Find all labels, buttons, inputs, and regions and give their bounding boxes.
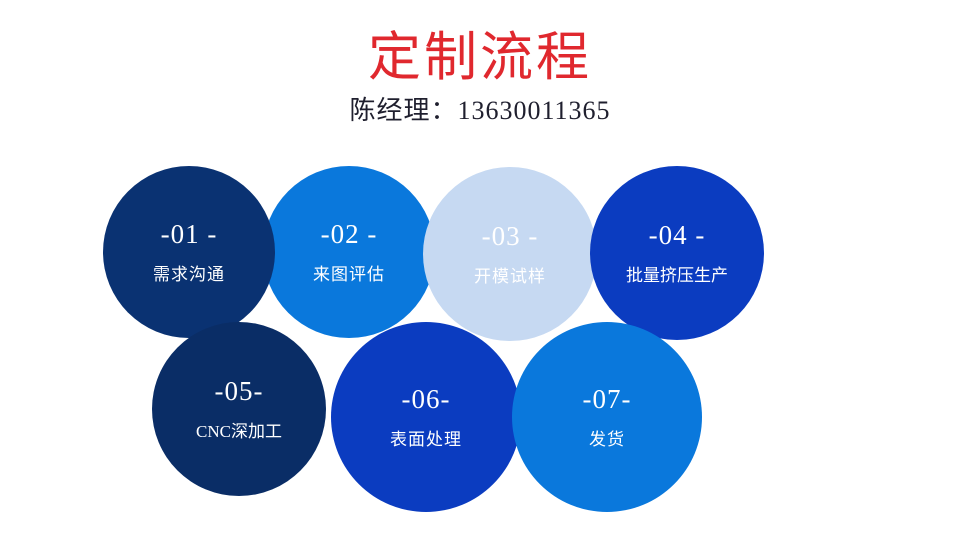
- step-label: 表面处理: [390, 431, 462, 448]
- step-number: -03 -: [482, 223, 539, 250]
- process-step-circle[interactable]: -03 -开模试样: [423, 167, 597, 341]
- step-label: 批量挤压生产: [626, 267, 728, 284]
- step-label: 发货: [589, 431, 625, 448]
- step-label: 需求沟通: [153, 266, 225, 283]
- process-step-circle[interactable]: -07-发货: [512, 322, 702, 512]
- step-label: 来图评估: [313, 266, 385, 283]
- step-label: 开模试样: [474, 268, 546, 285]
- step-number: -06-: [402, 386, 451, 413]
- process-step-circle[interactable]: -04 -批量挤压生产: [590, 166, 764, 340]
- step-number: -05-: [215, 378, 264, 405]
- process-step-circle[interactable]: -05-CNC深加工: [152, 322, 326, 496]
- step-label: CNC深加工: [196, 423, 282, 440]
- process-step-circle[interactable]: -06-表面处理: [331, 322, 521, 512]
- process-step-circle[interactable]: -02 -来图评估: [263, 166, 435, 338]
- step-number: -01 -: [161, 221, 218, 248]
- step-number: -02 -: [321, 221, 378, 248]
- slide-canvas: 定制流程 陈经理：13630011365 -01 -需求沟通-02 -来图评估-…: [0, 0, 960, 560]
- step-number: -07-: [583, 386, 632, 413]
- step-number: -04 -: [649, 222, 706, 249]
- process-circle-diagram: -01 -需求沟通-02 -来图评估-03 -开模试样-04 -批量挤压生产-0…: [0, 0, 960, 560]
- process-step-circle[interactable]: -01 -需求沟通: [103, 166, 275, 338]
